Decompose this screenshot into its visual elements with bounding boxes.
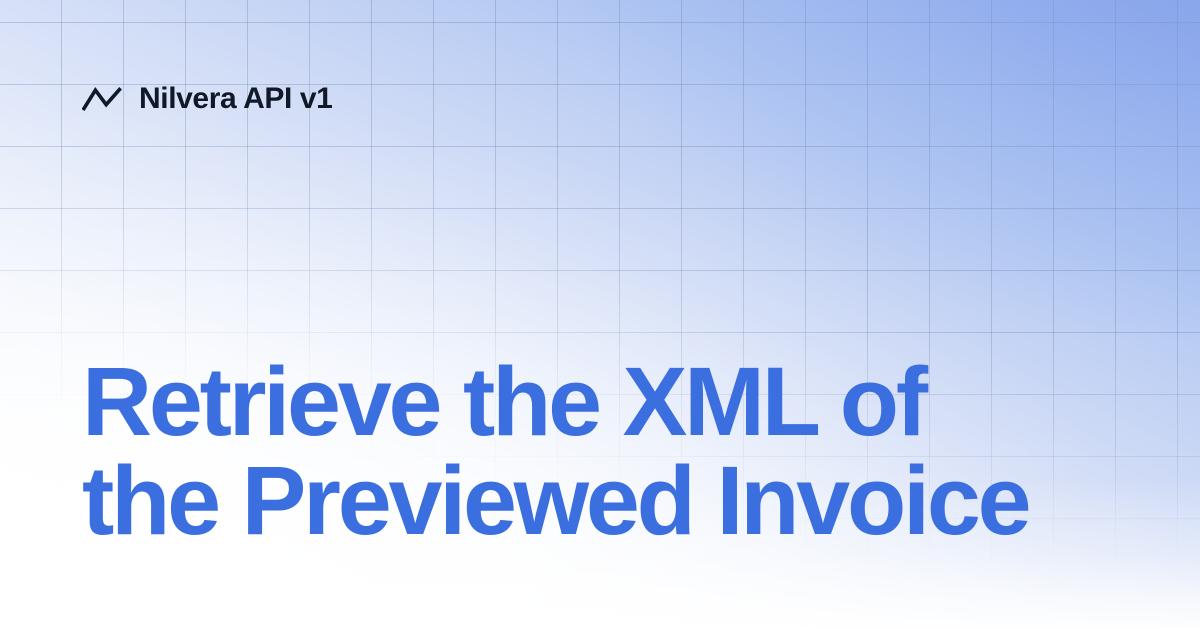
- page-title-line-1: Retrieve the XML of: [82, 352, 1142, 451]
- brand-name: Nilvera API v1: [139, 84, 332, 114]
- page-title: Retrieve the XML of the Previewed Invoic…: [82, 352, 1142, 550]
- brand-lockup: Nilvera API v1: [82, 84, 332, 114]
- og-card: Nilvera API v1 Retrieve the XML of the P…: [0, 0, 1200, 630]
- wave-line-logo-icon: [82, 86, 122, 112]
- page-title-line-2: the Previewed Invoice: [82, 451, 1142, 550]
